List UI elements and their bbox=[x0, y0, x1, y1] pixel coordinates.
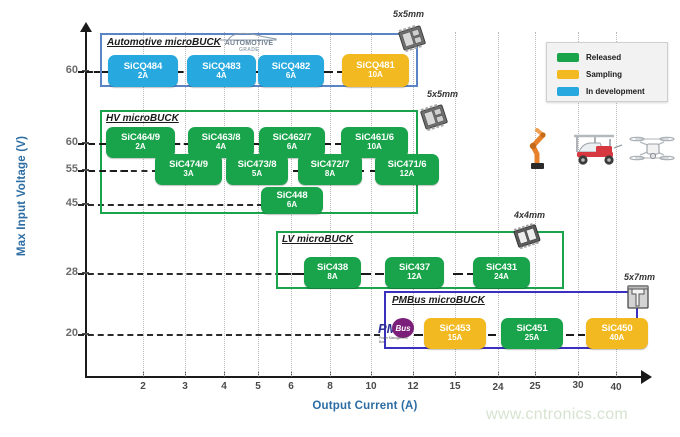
automotive-grade-line1: AUTOMOTIVE bbox=[218, 40, 280, 47]
part-current: 15A bbox=[448, 334, 463, 342]
legend-swatch-in-development bbox=[557, 87, 579, 96]
x-axis-arrow bbox=[641, 370, 652, 384]
qfn-package-icon-hv bbox=[419, 103, 449, 131]
h-guide-28 bbox=[78, 273, 301, 275]
connector-hv1-1 bbox=[175, 143, 189, 145]
y-axis-title: Max Input Voltage (V) bbox=[16, 111, 28, 281]
y-tick-label-28: 28 bbox=[48, 266, 78, 278]
part-sic472-7[interactable]: SiC472/7 8A bbox=[298, 154, 362, 185]
part-sicq481[interactable]: SiCQ481 10A bbox=[342, 54, 409, 87]
x-tick-label-10: 10 bbox=[358, 381, 384, 392]
part-sic471-6[interactable]: SiC471/6 12A bbox=[375, 154, 439, 185]
legend-label-in-development: In development bbox=[586, 87, 645, 96]
part-current: 4A bbox=[216, 72, 226, 80]
part-current: 6A bbox=[286, 72, 296, 80]
x-tick-label-40: 40 bbox=[603, 382, 629, 393]
connector-hv1-0 bbox=[78, 143, 106, 145]
pmbus-logo: PM Bus Power Management Bus bbox=[378, 318, 414, 344]
x-axis-line bbox=[85, 376, 643, 378]
part-current: 12A bbox=[407, 273, 422, 281]
utility-vehicle-icon bbox=[570, 130, 626, 170]
connector-lv-2a bbox=[453, 273, 463, 275]
qfn-package-icon bbox=[397, 24, 427, 52]
connector-pmbus-0a bbox=[414, 334, 423, 336]
x-tick-label-2: 2 bbox=[130, 381, 156, 392]
part-current: 4A bbox=[216, 143, 226, 151]
legend-label-released: Released bbox=[586, 53, 621, 62]
part-current: 40A bbox=[610, 334, 625, 342]
legend-swatch-released bbox=[557, 53, 579, 62]
y-axis-arrow bbox=[80, 22, 92, 32]
x-tick-label-6: 6 bbox=[278, 381, 304, 392]
watermark: www.cntronics.com bbox=[486, 406, 628, 424]
application-images bbox=[524, 126, 672, 172]
connector-auto-0 bbox=[78, 71, 108, 73]
part-sic453[interactable]: SiC453 15A bbox=[424, 318, 486, 349]
part-current: 6A bbox=[287, 201, 297, 209]
connector-lv-0a bbox=[278, 273, 288, 275]
part-sic474-9[interactable]: SiC474/9 3A bbox=[155, 154, 222, 185]
part-current: 8A bbox=[327, 273, 337, 281]
part-current: 24A bbox=[494, 273, 509, 281]
part-sicq484[interactable]: SiCQ484 2A bbox=[108, 55, 178, 87]
part-sic448[interactable]: SiC448 6A bbox=[261, 187, 323, 214]
part-sicq482[interactable]: SiCQ482 6A bbox=[258, 55, 324, 87]
part-current: 10A bbox=[367, 143, 382, 151]
part-current: 3A bbox=[183, 170, 193, 178]
part-current: 8A bbox=[325, 170, 335, 178]
part-current: 5A bbox=[252, 170, 262, 178]
legend-label-sampling: Sampling bbox=[586, 70, 622, 79]
part-current: 2A bbox=[138, 72, 148, 80]
connector-pmbus-1a bbox=[488, 334, 496, 336]
x-axis-title: Output Current (A) bbox=[240, 400, 490, 412]
part-sic451[interactable]: SiC451 25A bbox=[501, 318, 563, 349]
y-tick-label-60a: 60 bbox=[48, 64, 78, 76]
pmbus-tagline: Power Management Bus bbox=[379, 336, 413, 344]
connector-hv2-0 bbox=[78, 170, 128, 172]
drone-icon bbox=[628, 130, 676, 168]
x-tick-label-12: 12 bbox=[400, 381, 426, 392]
connector-hv1-3 bbox=[325, 143, 341, 145]
connector-auto-3a bbox=[324, 71, 333, 73]
connector-lv-1b bbox=[375, 273, 384, 275]
part-current: 25A bbox=[525, 334, 540, 342]
x-tick-label-8: 8 bbox=[317, 381, 343, 392]
x-tick-label-5: 5 bbox=[245, 381, 271, 392]
y-tick-label-55: 55 bbox=[48, 163, 78, 175]
connector-pmbus-2b bbox=[578, 334, 585, 336]
chart-canvas: Max Input Voltage (V) Output Current (A)… bbox=[0, 0, 680, 437]
part-sic473-8[interactable]: SiC473/8 5A bbox=[226, 154, 288, 185]
h-guide-20 bbox=[78, 334, 380, 336]
y-tick-label-20: 20 bbox=[48, 327, 78, 339]
x-tick-label-15: 15 bbox=[442, 381, 468, 392]
group-label-lv: LV microBUCK bbox=[282, 234, 353, 245]
legend-item-in-development: In development bbox=[557, 83, 661, 100]
part-current: 2A bbox=[135, 143, 145, 151]
x-tick-label-30: 30 bbox=[565, 380, 591, 391]
legend-swatch-sampling bbox=[557, 70, 579, 79]
pmbus-bus-badge: Bus bbox=[392, 318, 414, 338]
qfn-package-icon-lv bbox=[512, 222, 542, 250]
x-tick-label-24: 24 bbox=[485, 382, 511, 393]
legend-item-released: Released bbox=[557, 49, 661, 66]
legend-item-sampling: Sampling bbox=[557, 66, 661, 83]
automotive-grade-line2: GRADE bbox=[218, 47, 280, 53]
connector-pmbus-2a bbox=[566, 334, 574, 336]
package-label-lv: 4x4mm bbox=[514, 210, 545, 220]
part-sic450[interactable]: SiC450 40A bbox=[586, 318, 648, 349]
part-sic438[interactable]: SiC438 8A bbox=[304, 257, 361, 288]
part-sic437[interactable]: SiC437 12A bbox=[385, 257, 444, 288]
powerpak-package-icon bbox=[625, 284, 651, 310]
connector-lv-1a bbox=[360, 273, 371, 275]
connector-lv-0b bbox=[292, 273, 304, 275]
package-label-hv: 5x5mm bbox=[427, 89, 458, 99]
part-current: 12A bbox=[400, 170, 415, 178]
group-label-pmbus: PMBus microBUCK bbox=[392, 295, 485, 306]
automotive-grade-badge: AUTOMOTIVE GRADE bbox=[218, 33, 280, 55]
package-label-pmbus: 5x7mm bbox=[624, 272, 655, 282]
group-label-hv: HV microBUCK bbox=[106, 113, 179, 124]
package-label-automotive: 5x5mm bbox=[393, 9, 424, 19]
part-current: 10A bbox=[368, 71, 383, 79]
y-tick-label-45: 45 bbox=[48, 197, 78, 209]
legend: Released Sampling In development bbox=[546, 42, 668, 102]
group-label-automotive: Automotive microBUCK bbox=[107, 37, 221, 48]
x-tick-label-25: 25 bbox=[522, 381, 548, 392]
part-sic431[interactable]: SiC431 24A bbox=[473, 257, 530, 288]
y-tick-label-60b: 60 bbox=[48, 136, 78, 148]
part-current: 6A bbox=[287, 143, 297, 151]
x-tick-label-3: 3 bbox=[172, 381, 198, 392]
part-sicq483[interactable]: SiCQ483 4A bbox=[187, 55, 256, 87]
robot-arm-icon bbox=[524, 126, 558, 170]
x-tick-label-4: 4 bbox=[211, 381, 237, 392]
